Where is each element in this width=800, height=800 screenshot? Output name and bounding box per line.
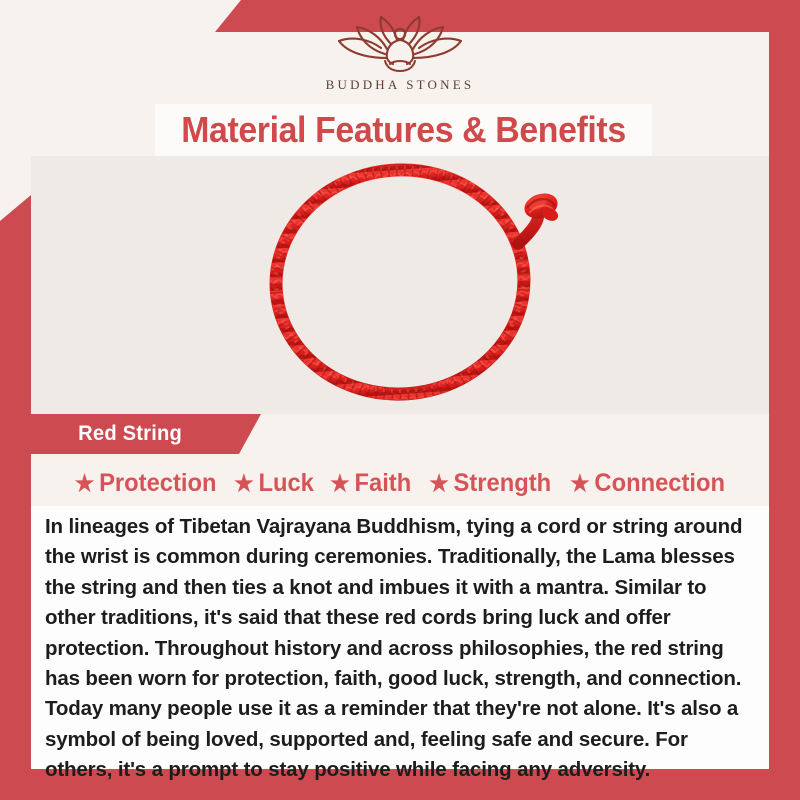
product-feature-poster: BUDDHA STONES Material Features & Benefi…	[0, 0, 800, 800]
page-title-band: Material Features & Benefits	[155, 104, 652, 156]
feature-label: Luck	[259, 469, 314, 498]
feature-item-faith: ★ Faith	[326, 469, 417, 498]
brand-wordmark: BUDDHA STONES	[326, 77, 475, 93]
hero-image-panel	[31, 156, 769, 414]
feature-label: Faith	[355, 469, 412, 498]
feature-label: Connection	[594, 469, 725, 498]
feature-label: Strength	[453, 469, 551, 498]
star-icon: ★	[429, 472, 449, 495]
feature-item-luck: ★ Luck	[230, 469, 319, 498]
feature-benefits-row: ★ Protection ★ Luck ★ Faith ★ Strength ★…	[31, 462, 769, 504]
page-title: Material Features & Benefits	[181, 109, 626, 151]
star-icon: ★	[234, 472, 254, 495]
feature-label: Protection	[99, 469, 216, 498]
feature-item-protection: ★ Protection	[70, 469, 221, 498]
feature-item-strength: ★ Strength	[424, 469, 555, 498]
feature-item-connection: ★ Connection	[565, 469, 729, 498]
material-name-ribbon: Red String	[31, 414, 261, 454]
star-icon: ★	[75, 472, 95, 495]
decorative-frame-left	[0, 195, 31, 800]
star-icon: ★	[330, 472, 350, 495]
decorative-frame-right	[769, 0, 800, 800]
lotus-meditation-icon	[325, 14, 475, 76]
red-string-braided-bracelet	[31, 156, 769, 414]
material-name-label: Red String	[78, 422, 182, 446]
description-text: In lineages of Tibetan Vajrayana Buddhis…	[45, 512, 755, 786]
star-icon: ★	[570, 472, 590, 495]
description-panel: In lineages of Tibetan Vajrayana Buddhis…	[31, 506, 769, 769]
brand-logo: BUDDHA STONES	[0, 14, 800, 100]
